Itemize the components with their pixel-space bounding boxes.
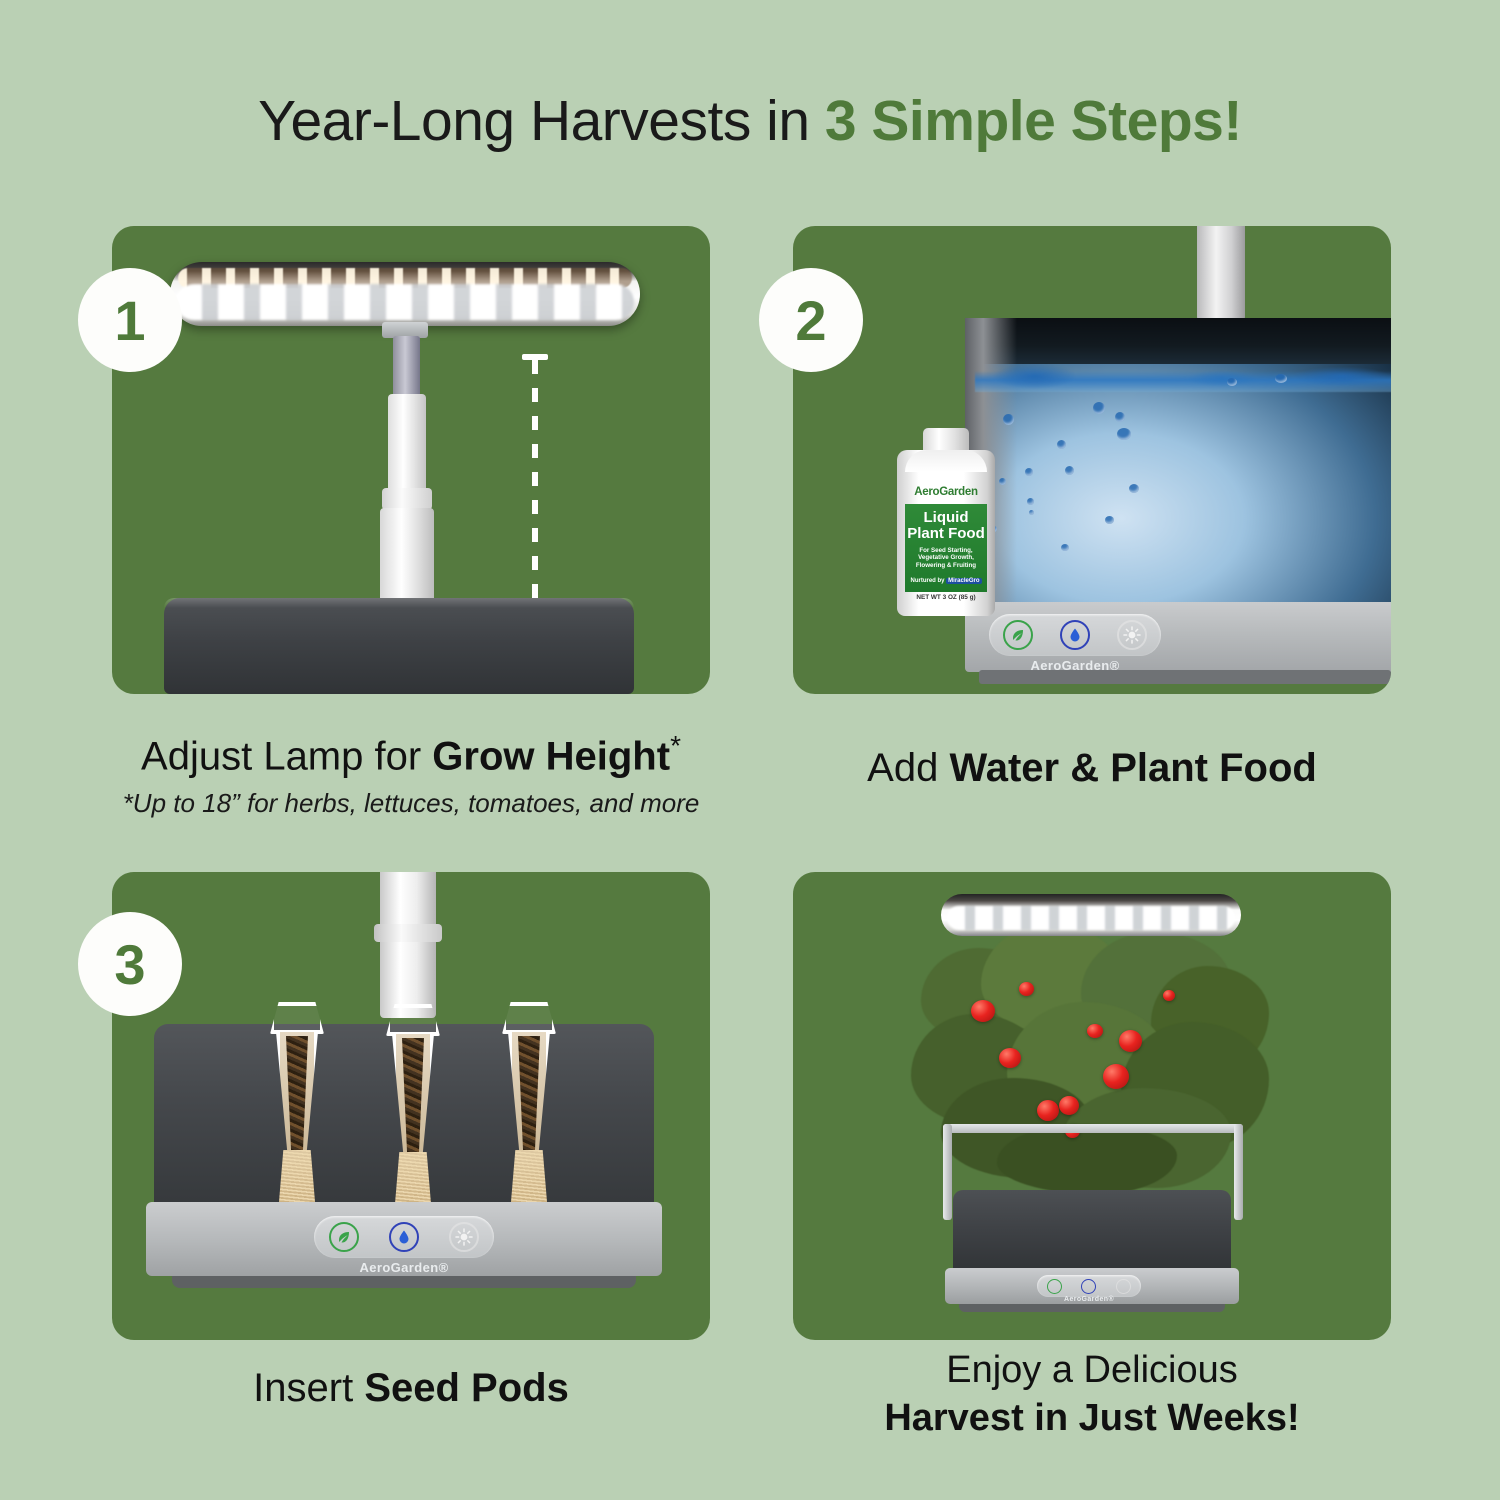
seed-pod xyxy=(264,1002,330,1222)
title-accent: 3 Simple Steps! xyxy=(825,89,1242,153)
step-1-caption-bold: Grow Height xyxy=(432,734,670,778)
step-2-caption: Add Water & Plant Food xyxy=(793,745,1391,791)
sun-icon[interactable] xyxy=(449,1222,479,1252)
bottle-description: For Seed Starting, Vegetative Growth, Fl… xyxy=(905,547,987,570)
leaf-icon[interactable] xyxy=(329,1222,359,1252)
lamp-pole-collar xyxy=(374,924,442,942)
bottle-shoulder xyxy=(905,450,987,472)
lamp-pole-top xyxy=(1197,226,1245,320)
water-drop-icon[interactable] xyxy=(1081,1279,1096,1294)
seed-pod xyxy=(496,1002,562,1222)
trellis-right-post xyxy=(1234,1124,1243,1220)
bubble xyxy=(1227,378,1237,386)
pod-basket-top xyxy=(386,1004,440,1036)
control-panel[interactable] xyxy=(1037,1275,1141,1297)
measure-dashes xyxy=(532,360,538,600)
bubble xyxy=(1117,428,1131,440)
reservoir-air-gap xyxy=(965,318,1391,364)
water-drop-icon[interactable] xyxy=(389,1222,419,1252)
cherry-tomato xyxy=(1059,1096,1079,1115)
step-3-caption: Insert Seed Pods xyxy=(112,1365,710,1411)
trellis-left-post xyxy=(943,1124,952,1220)
water-drop-icon[interactable] xyxy=(1060,620,1090,650)
cherry-tomato xyxy=(1119,1030,1142,1052)
cherry-tomato xyxy=(971,1000,995,1022)
bubble xyxy=(1061,544,1069,551)
leaf-icon[interactable] xyxy=(1047,1279,1062,1294)
bottle-nurtured-prefix: Nurtured by xyxy=(910,578,946,584)
led-lamp-hood-icon xyxy=(170,262,640,326)
lamp-pole-upper-dark xyxy=(393,336,420,398)
cherry-tomato xyxy=(999,1048,1021,1068)
garden-base-unit: AeroGarden® xyxy=(945,1268,1239,1304)
lamp-pole-lower xyxy=(380,872,436,1018)
cherry-tomato xyxy=(1163,990,1175,1001)
liquid-plant-food-bottle: AeroGarden Liquid Plant Food For Seed St… xyxy=(897,428,995,616)
title-plain: Year-Long Harvests in xyxy=(258,89,825,153)
step-2-image-panel: AeroGarden® AeroGarden Liquid Plant Food… xyxy=(793,226,1391,694)
step-2-caption-plain: Add xyxy=(867,746,949,790)
step-4-caption-line2: Harvest in Just Weeks! xyxy=(793,1396,1391,1440)
bubble xyxy=(1129,484,1139,493)
step-1-subcaption: *Up to 18” for herbs, lettuces, tomatoes… xyxy=(112,788,710,819)
bubble xyxy=(999,478,1006,485)
step-1-image-panel xyxy=(112,226,710,694)
lamp-pole-collar xyxy=(382,488,432,510)
cherry-tomato xyxy=(1019,982,1034,996)
leaf-icon[interactable] xyxy=(1003,620,1033,650)
cherry-tomato xyxy=(1087,1024,1103,1038)
step-1-badge: 1 xyxy=(78,268,182,372)
seed-pod xyxy=(380,1004,446,1224)
step-4-image-panel: AeroGarden® xyxy=(793,872,1391,1340)
step-4-caption: Enjoy a Delicious Harvest in Just Weeks! xyxy=(793,1348,1391,1440)
control-panel-brand: AeroGarden® xyxy=(1037,1296,1141,1303)
led-lamp-hood-icon xyxy=(941,894,1241,936)
cherry-tomato xyxy=(1103,1064,1129,1089)
bubble xyxy=(1065,466,1074,475)
bubble xyxy=(1025,468,1033,476)
bubble xyxy=(1093,402,1105,414)
bottle-nurtured-line: Nurtured by MiracleGro xyxy=(905,578,987,584)
pod-basket-top xyxy=(502,1002,556,1034)
step-1-caption-plain: Adjust Lamp for xyxy=(141,734,432,778)
pod-basket-top xyxy=(270,1002,324,1034)
cherry-tomato xyxy=(1037,1100,1059,1121)
miracle-gro-logo: MiracleGro xyxy=(946,578,981,584)
water-reservoir xyxy=(965,318,1391,604)
step-3-image-panel: AeroGarden® xyxy=(112,872,710,1340)
water-surface-line xyxy=(975,362,1391,392)
trellis-top-bar xyxy=(943,1124,1243,1133)
bottle-green-label: Liquid Plant Food For Seed Starting, Veg… xyxy=(905,504,987,592)
lamp-pole-lower xyxy=(380,508,434,606)
base-foot-shadow xyxy=(979,670,1391,684)
bottle-net-weight: NET WT 3 OZ (85 g) xyxy=(905,594,987,601)
step-3-badge: 3 xyxy=(78,912,182,1016)
bottle-product-line2: Plant Food xyxy=(905,526,987,542)
trellis-frame xyxy=(943,1124,1243,1220)
bubble xyxy=(1105,516,1114,524)
grow-lamp-illustration xyxy=(112,226,710,694)
step-1-number: 1 xyxy=(114,288,145,353)
step-3-caption-bold: Seed Pods xyxy=(364,1366,569,1410)
page-title: Year-Long Harvests in 3 Simple Steps! xyxy=(0,88,1500,154)
garden-base-unit xyxy=(164,598,634,694)
step-1-caption-superscript: * xyxy=(670,730,681,761)
control-panel[interactable] xyxy=(989,614,1161,656)
step-1-caption: Adjust Lamp for Grow Height* xyxy=(112,730,710,780)
bubble xyxy=(1275,374,1287,383)
control-panel-brand: AeroGarden® xyxy=(314,1260,494,1275)
bubble xyxy=(1003,414,1014,425)
garden-base-unit: AeroGarden® xyxy=(146,1202,662,1276)
control-panel[interactable] xyxy=(314,1216,494,1258)
infographic-page: Year-Long Harvests in 3 Simple Steps! 1 … xyxy=(0,0,1500,1500)
step-3-caption-plain: Insert xyxy=(253,1366,364,1410)
step-2-caption-bold: Water & Plant Food xyxy=(949,746,1316,790)
step-4-caption-line1: Enjoy a Delicious xyxy=(946,1349,1237,1391)
step-2-badge: 2 xyxy=(759,268,863,372)
bottle-product-line1: Liquid xyxy=(905,510,987,526)
step-2-number: 2 xyxy=(795,288,826,353)
bubble xyxy=(1029,510,1034,515)
sun-icon[interactable] xyxy=(1116,1279,1131,1294)
bubble xyxy=(1027,498,1034,505)
bottle-brand-label: AeroGarden xyxy=(905,486,987,498)
bubble xyxy=(1057,440,1066,449)
step-3-number: 3 xyxy=(114,932,145,997)
sun-icon[interactable] xyxy=(1117,620,1147,650)
bubble xyxy=(1115,412,1125,422)
garden-base-unit: AeroGarden® xyxy=(965,602,1391,672)
height-measure-dashed-line-icon xyxy=(522,354,548,606)
